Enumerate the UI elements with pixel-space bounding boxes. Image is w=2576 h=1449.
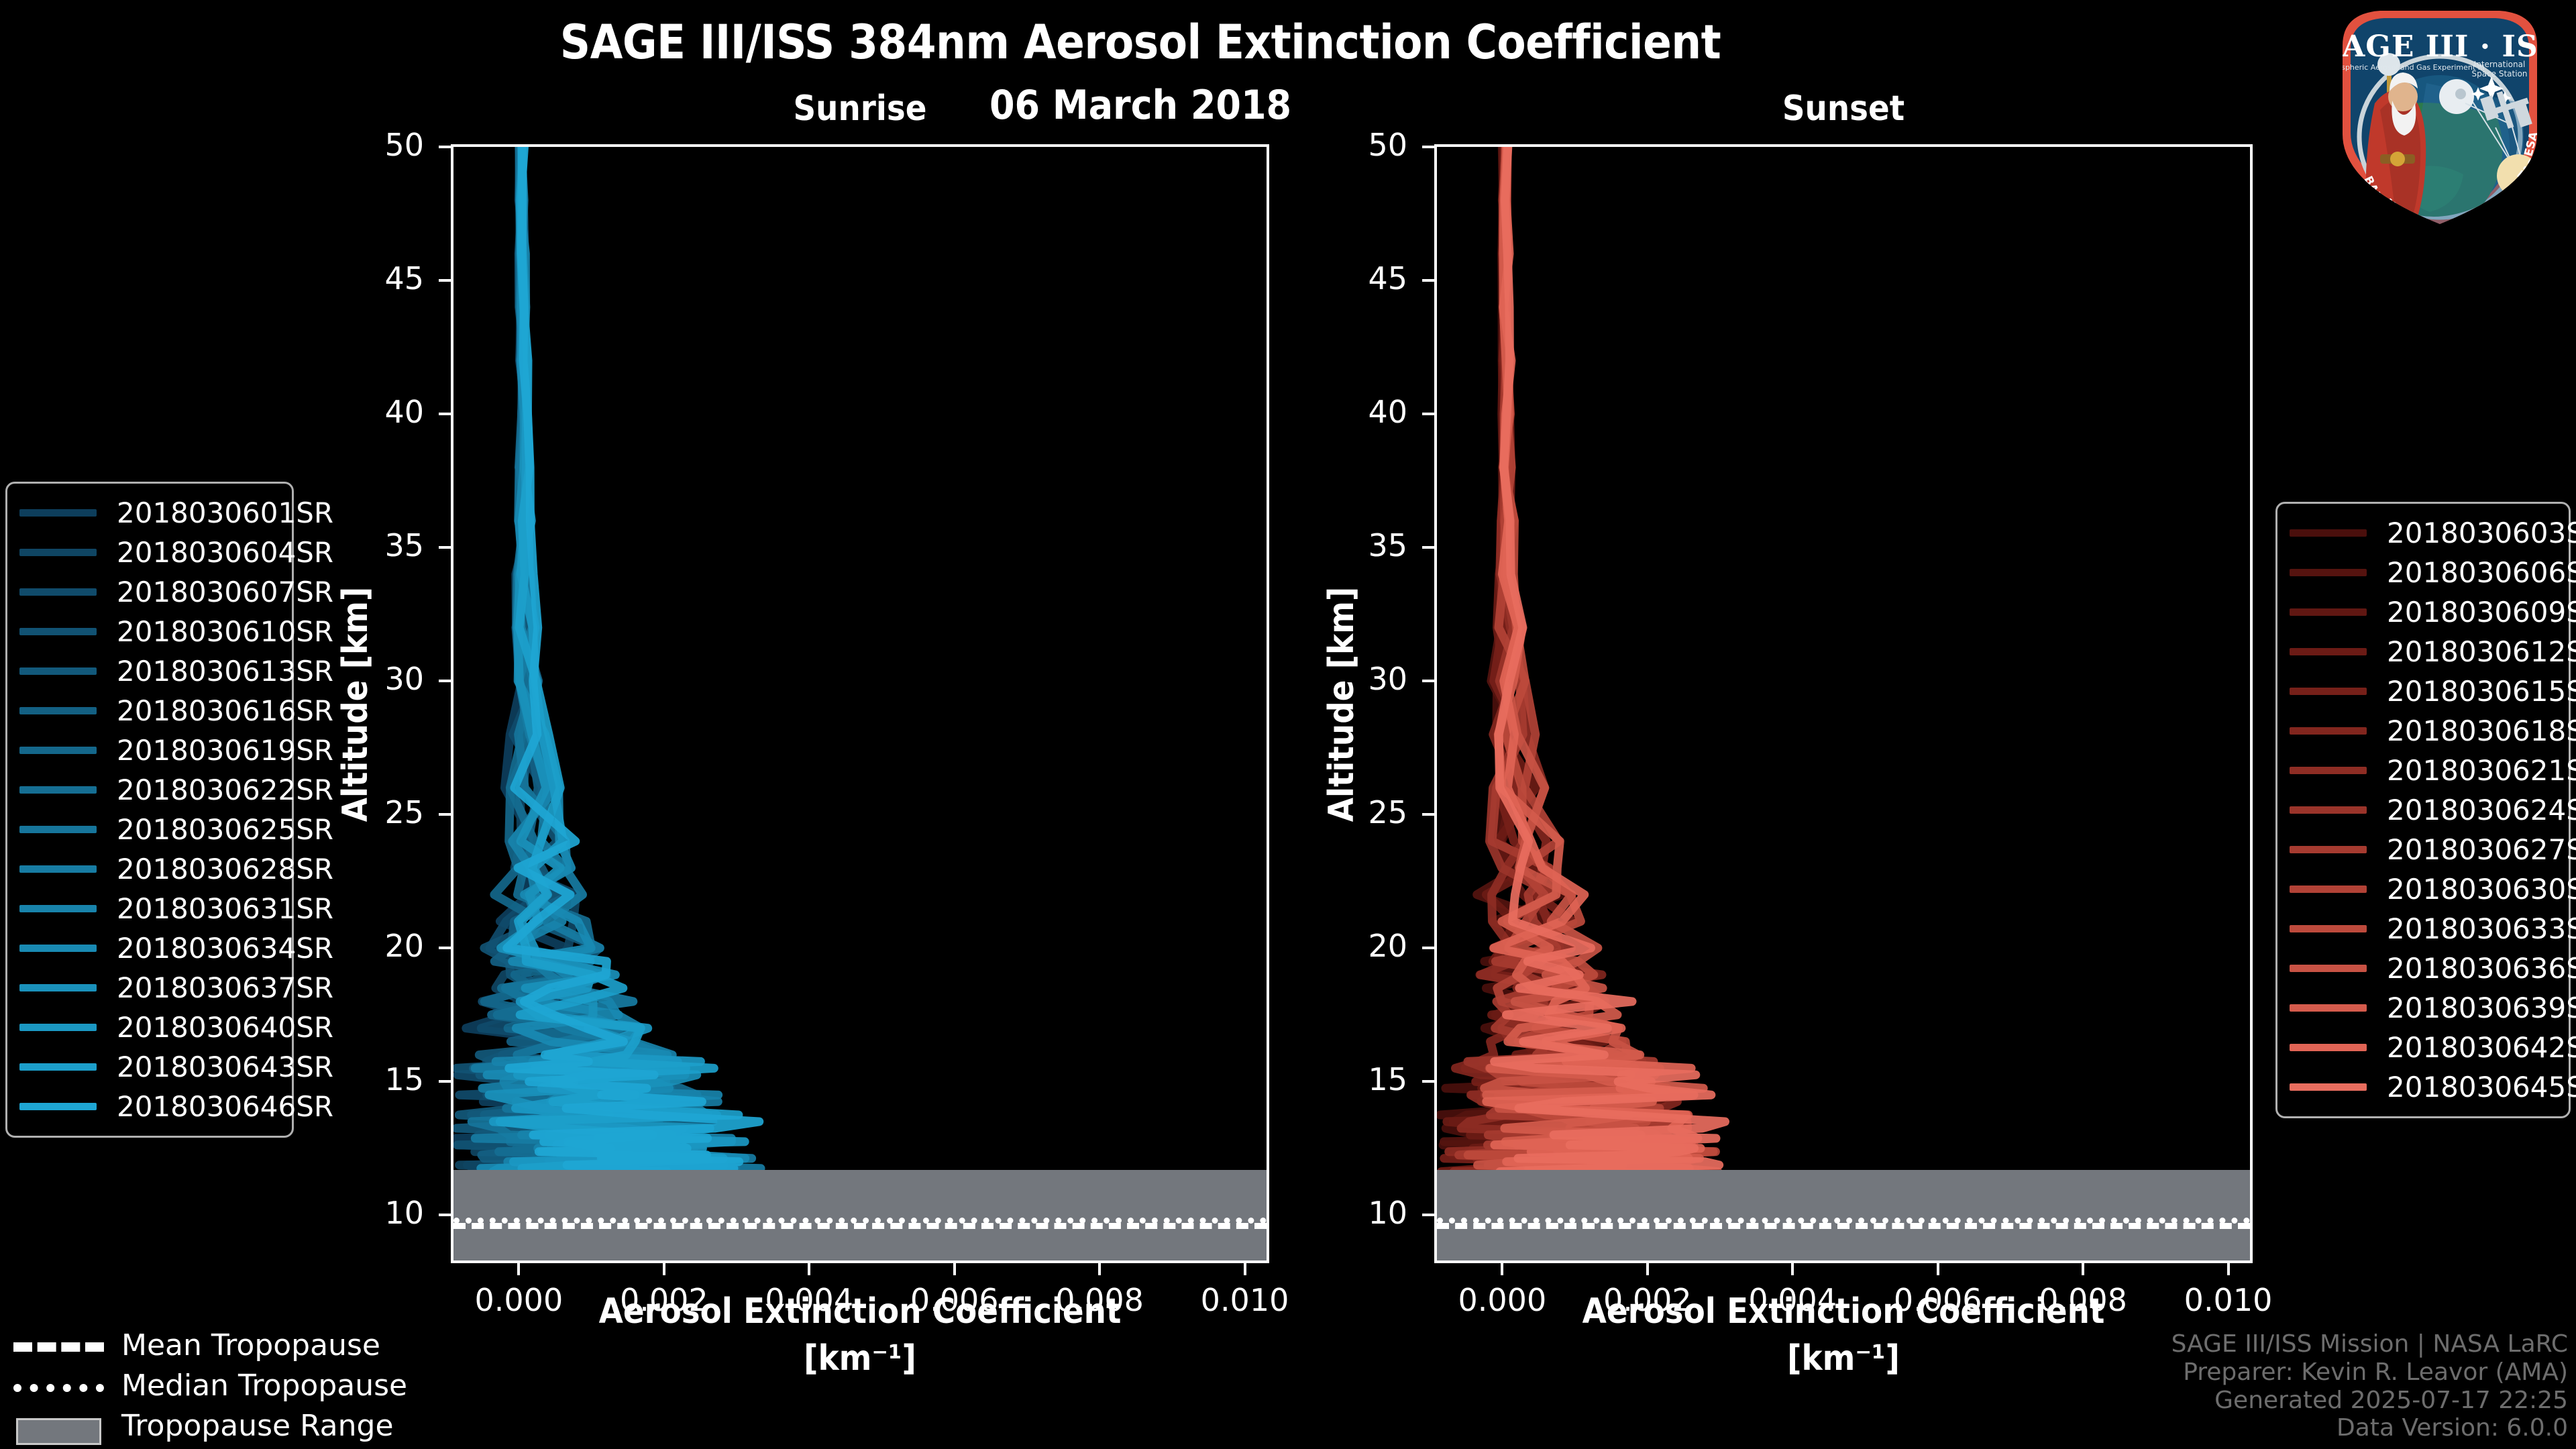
legend-item[interactable]: 2018030615SS xyxy=(2290,672,2557,711)
legend-item[interactable]: 2018030646SR xyxy=(19,1087,280,1126)
y-tick xyxy=(1422,546,1434,549)
legend-item[interactable]: 2018030601SR xyxy=(19,493,280,533)
legend-item[interactable]: 2018030619SR xyxy=(19,731,280,770)
legend-color-swatch xyxy=(2290,1044,2367,1051)
x-axis-label-sunrise-line2: [km⁻¹] xyxy=(451,1338,1269,1379)
x-axis-label-sunrise-line1: Aerosol Extinction Coefficient xyxy=(451,1291,1269,1332)
legend-item-label: 2018030622SR xyxy=(117,773,333,806)
legend-item-label: 2018030613SR xyxy=(117,655,333,688)
legend-item-label: 2018030604SR xyxy=(117,536,333,569)
y-tick xyxy=(439,546,451,549)
x-tick xyxy=(1098,1263,1101,1275)
legend-item-label: 2018030633SS xyxy=(2387,912,2576,945)
legend-color-swatch xyxy=(2290,727,2367,735)
x-tick xyxy=(808,1263,810,1275)
x-tick xyxy=(663,1263,665,1275)
legend-item[interactable]: 2018030606SS xyxy=(2290,553,2557,592)
legend-item[interactable]: 2018030604SR xyxy=(19,533,280,572)
legend-item[interactable]: 2018030607SR xyxy=(19,572,280,612)
y-tick xyxy=(1422,813,1434,816)
legend-item[interactable]: 2018030633SS xyxy=(2290,909,2557,949)
legend-item[interactable]: 2018030643SR xyxy=(19,1047,280,1087)
legend-item-label: 2018030640SR xyxy=(117,1011,333,1044)
y-axis-label-sunrise: Altitude [km] xyxy=(335,470,376,939)
y-tick xyxy=(1422,413,1434,415)
y-tick xyxy=(439,1214,451,1216)
legend-item-label: 2018030621SS xyxy=(2387,754,2576,787)
legend-item[interactable]: 2018030621SS xyxy=(2290,751,2557,790)
tropopause-key-legend: Mean TropopauseMedian TropopauseTropopau… xyxy=(13,1325,429,1446)
legend-color-swatch xyxy=(19,786,97,794)
legend-item[interactable]: 2018030642SS xyxy=(2290,1028,2557,1067)
legend-color-swatch xyxy=(19,1103,97,1110)
legend-color-swatch xyxy=(19,1024,97,1031)
legend-color-swatch xyxy=(19,945,97,952)
legend-item-label: 2018030606SS xyxy=(2387,556,2576,589)
legend-color-swatch xyxy=(19,667,97,675)
legend-color-swatch xyxy=(2290,1083,2367,1091)
legend-item[interactable]: 2018030612SS xyxy=(2290,632,2557,672)
svg-text:Stratospheric Aerosol and Gas: Stratospheric Aerosol and Gas Experiment… xyxy=(2322,63,2484,72)
legend-item[interactable]: 2018030637SR xyxy=(19,968,280,1008)
x-tick xyxy=(953,1263,956,1275)
legend-color-swatch xyxy=(2290,529,2367,537)
legend-color-swatch xyxy=(19,865,97,873)
y-tick xyxy=(1422,1214,1434,1216)
x-tick xyxy=(1937,1263,1939,1275)
y-tick xyxy=(439,279,451,282)
x-tick xyxy=(2227,1263,2230,1275)
legend-sunset[interactable]: 2018030603SS2018030606SS2018030609SS2018… xyxy=(2275,502,2571,1118)
x-tick xyxy=(2082,1263,2084,1275)
tropopause-key-item: Mean Tropopause xyxy=(13,1325,429,1365)
legend-item[interactable]: 2018030624SS xyxy=(2290,790,2557,830)
y-axis-label-sunset: Altitude [km] xyxy=(1322,470,1362,939)
credits-block: SAGE III/ISS Mission | NASA LaRC Prepare… xyxy=(2171,1330,2568,1442)
mean-tropopause-line xyxy=(1437,1223,2250,1229)
legend-item[interactable]: 2018030616SR xyxy=(19,691,280,731)
legend-item-label: 2018030646SR xyxy=(117,1090,333,1123)
credit-data-version: Data Version: 6.0.0 xyxy=(2171,1414,2568,1442)
tropopause-key-item: Tropopause Range xyxy=(13,1405,429,1446)
svg-text:·: · xyxy=(2372,192,2385,204)
legend-item-label: 2018030609SS xyxy=(2387,596,2576,629)
legend-color-swatch xyxy=(2290,806,2367,814)
x-tick xyxy=(517,1263,520,1275)
y-tick-label: 40 xyxy=(290,394,424,430)
tropopause-range-band xyxy=(1437,1170,2250,1260)
legend-color-swatch xyxy=(2290,608,2367,616)
tropopause-key-label: Mean Tropopause xyxy=(121,1328,380,1362)
legend-item-label: 2018030637SR xyxy=(117,971,333,1004)
legend-color-swatch xyxy=(19,707,97,714)
legend-item[interactable]: 2018030636SS xyxy=(2290,949,2557,988)
legend-item-label: 2018030618SS xyxy=(2387,714,2576,747)
chart-panel-sunset xyxy=(1434,144,2253,1263)
x-tick xyxy=(1646,1263,1649,1275)
legend-color-swatch xyxy=(19,588,97,596)
y-tick xyxy=(439,146,451,148)
legend-item-label: 2018030610SR xyxy=(117,615,333,648)
legend-item[interactable]: 2018030618SS xyxy=(2290,711,2557,751)
legend-color-swatch xyxy=(19,628,97,635)
tropopause-key-item: Median Tropopause xyxy=(13,1365,429,1405)
y-tick-label: 50 xyxy=(290,127,424,163)
legend-color-swatch xyxy=(2290,767,2367,774)
legend-item[interactable]: 2018030631SR xyxy=(19,889,280,928)
legend-item-label: 2018030642SS xyxy=(2387,1031,2576,1064)
y-tick xyxy=(439,680,451,682)
y-tick xyxy=(439,1080,451,1083)
y-tick xyxy=(439,947,451,949)
legend-color-swatch xyxy=(2290,569,2367,576)
legend-color-swatch xyxy=(2290,1004,2367,1012)
credit-generated: Generated 2025-07-17 22:25 xyxy=(2171,1387,2568,1415)
panel-title-sunrise: Sunrise xyxy=(451,89,1269,129)
legend-item-label: 2018030639SS xyxy=(2387,991,2576,1024)
tropopause-range-band xyxy=(453,1170,1267,1260)
panel-title-sunset: Sunset xyxy=(1434,89,2253,129)
legend-item-label: 2018030612SS xyxy=(2387,635,2576,668)
legend-item[interactable]: 2018030634SR xyxy=(19,928,280,968)
y-tick xyxy=(439,813,451,816)
dashed-line-icon xyxy=(13,1338,104,1352)
legend-item[interactable]: 2018030645SS xyxy=(2290,1067,2557,1107)
x-axis-label-sunset-line1: Aerosol Extinction Coefficient xyxy=(1434,1291,2253,1332)
legend-color-swatch xyxy=(19,549,97,556)
legend-item-label: 2018030603SS xyxy=(2387,517,2576,549)
legend-color-swatch xyxy=(19,1063,97,1071)
legend-item[interactable]: 2018030609SS xyxy=(2290,592,2557,632)
legend-item-label: 2018030636SS xyxy=(2387,952,2576,985)
legend-item-label: 2018030628SR xyxy=(117,853,333,885)
y-tick-label: 50 xyxy=(1273,127,1407,163)
credit-preparer: Preparer: Kevin R. Leavor (AMA) xyxy=(2171,1358,2568,1387)
legend-item[interactable]: 2018030639SS xyxy=(2290,988,2557,1028)
legend-sunrise[interactable]: 2018030601SR2018030604SR2018030607SR2018… xyxy=(5,482,294,1138)
y-tick-label: 10 xyxy=(1273,1195,1407,1231)
y-tick-label: 45 xyxy=(1273,260,1407,297)
legend-item-label: 2018030615SS xyxy=(2387,675,2576,708)
y-tick xyxy=(1422,1080,1434,1083)
legend-color-swatch xyxy=(19,509,97,517)
dotted-line-icon xyxy=(13,1378,104,1393)
legend-item-label: 2018030607SR xyxy=(117,576,333,608)
legend-item[interactable]: 2018030625SR xyxy=(19,810,280,849)
legend-item-label: 2018030631SR xyxy=(117,892,333,925)
legend-color-swatch xyxy=(2290,648,2367,655)
y-tick-label: 10 xyxy=(290,1195,424,1231)
y-tick xyxy=(439,413,451,415)
tropopause-key-label: Median Tropopause xyxy=(121,1368,407,1403)
profile-line xyxy=(1495,147,1725,1175)
page-title: SAGE III/ISS 384nm Aerosol Extinction Co… xyxy=(0,15,2281,70)
legend-item[interactable]: 2018030628SR xyxy=(19,849,280,889)
legend-color-swatch xyxy=(19,984,97,991)
plot-area-sunrise xyxy=(453,147,1267,1260)
x-tick xyxy=(1501,1263,1503,1275)
legend-item-label: 2018030627SS xyxy=(2387,833,2576,866)
profile-curves-sunrise xyxy=(453,147,1267,1260)
legend-color-swatch xyxy=(19,826,97,833)
sage-iii-iss-logo-icon: SAGE III · ISS Stratospheric Aerosol and… xyxy=(2322,3,2557,231)
legend-item[interactable]: 2018030627SS xyxy=(2290,830,2557,869)
legend-color-swatch xyxy=(2290,885,2367,893)
legend-item[interactable]: 2018030610SR xyxy=(19,612,280,651)
legend-item-label: 2018030634SR xyxy=(117,932,333,965)
legend-color-swatch xyxy=(2290,965,2367,972)
legend-item-label: 2018030645SS xyxy=(2387,1071,2576,1104)
legend-item-label: 2018030624SS xyxy=(2387,794,2576,826)
filled-box-icon xyxy=(13,1418,104,1433)
svg-text:SAGE III · ISS: SAGE III · ISS xyxy=(2322,30,2557,64)
legend-item-label: 2018030616SR xyxy=(117,694,333,727)
y-tick xyxy=(1422,680,1434,682)
legend-color-swatch xyxy=(2290,846,2367,853)
tropopause-key-label: Tropopause Range xyxy=(121,1409,394,1443)
legend-item[interactable]: 2018030640SR xyxy=(19,1008,280,1047)
y-tick-label: 45 xyxy=(290,260,424,297)
svg-text:International: International xyxy=(2474,60,2526,69)
plot-area-sunset xyxy=(1437,147,2250,1260)
y-tick-label: 40 xyxy=(1273,394,1407,430)
svg-text:Space Station: Space Station xyxy=(2471,69,2527,78)
legend-item[interactable]: 2018030613SR xyxy=(19,651,280,691)
legend-item-label: 2018030601SR xyxy=(117,496,333,529)
legend-item-label: 2018030625SR xyxy=(117,813,333,846)
y-tick xyxy=(1422,146,1434,148)
mean-tropopause-line xyxy=(453,1223,1267,1229)
chart-panel-sunrise xyxy=(451,144,1269,1263)
x-axis-label-sunset-line2: [km⁻¹] xyxy=(1434,1338,2253,1379)
legend-item-label: 2018030619SR xyxy=(117,734,333,767)
x-tick xyxy=(1791,1263,1794,1275)
legend-color-swatch xyxy=(19,747,97,754)
x-tick xyxy=(1244,1263,1246,1275)
y-tick xyxy=(1422,279,1434,282)
legend-color-swatch xyxy=(19,905,97,912)
legend-item-label: 2018030630SS xyxy=(2387,873,2576,906)
y-tick-label: 15 xyxy=(1273,1061,1407,1097)
legend-color-swatch xyxy=(2290,688,2367,695)
profile-curves-sunset xyxy=(1437,147,2250,1260)
legend-color-swatch xyxy=(2290,925,2367,932)
legend-item[interactable]: 2018030622SR xyxy=(19,770,280,810)
legend-item[interactable]: 2018030630SS xyxy=(2290,869,2557,909)
legend-item-label: 2018030643SR xyxy=(117,1051,333,1083)
y-tick xyxy=(1422,947,1434,949)
credit-mission: SAGE III/ISS Mission | NASA LaRC xyxy=(2171,1330,2568,1358)
legend-item[interactable]: 2018030603SS xyxy=(2290,513,2557,553)
